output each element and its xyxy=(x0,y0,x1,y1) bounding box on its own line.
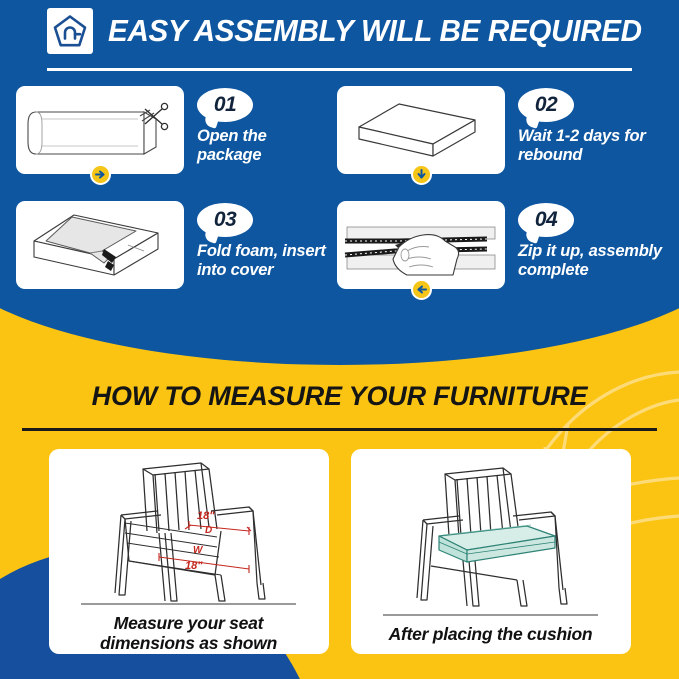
step-04-label: Zip it up, assembly complete xyxy=(518,242,662,279)
chair-with-cushion-icon xyxy=(351,449,631,614)
step-02: 02 Wait 1-2 days for rebound xyxy=(330,86,670,174)
step-04-number: 04 xyxy=(535,208,557,232)
step-03-number-bubble: 03 xyxy=(197,203,253,237)
step-01-number: 01 xyxy=(214,93,236,117)
step-04-text: 04 Zip it up, assembly complete xyxy=(505,201,662,279)
hand-zipping-cover-icon xyxy=(337,201,505,289)
header-divider xyxy=(47,68,632,71)
arrow-right-icon xyxy=(90,164,111,185)
step-01-text: 01 Open the package xyxy=(184,86,267,164)
step-01: 01 Open the package xyxy=(0,86,330,174)
step-02-illustration-card xyxy=(337,86,505,174)
measure-card-dimensions: 18" D W 18" Measure your seat dimensions… xyxy=(49,449,329,654)
dimension-width-value: 18" xyxy=(185,560,203,572)
step-02-number-bubble: 02 xyxy=(518,88,574,122)
step-02-label: Wait 1-2 days for rebound xyxy=(518,127,645,164)
arrow-left-icon xyxy=(411,279,432,300)
step-01-illustration-card xyxy=(16,86,184,174)
header: EASY ASSEMBLY WILL BE REQUIRED xyxy=(0,0,679,62)
arrow-down-icon xyxy=(411,164,432,185)
assembly-steps: 01 Open the package xyxy=(0,86,679,289)
step-04: 04 Zip it up, assembly complete xyxy=(330,201,670,289)
step-row-1: 01 Open the package xyxy=(0,86,679,174)
step-03-label: Fold foam, insert into cover xyxy=(197,242,326,279)
measure-card-caption: After placing the cushion xyxy=(351,616,631,654)
step-01-number-bubble: 01 xyxy=(197,88,253,122)
step-01-label: Open the package xyxy=(197,127,267,164)
step-04-number-bubble: 04 xyxy=(518,203,574,237)
measure-card-caption: Measure your seat dimensions as shown xyxy=(49,605,329,654)
chair-with-dimensions-icon: 18" D W 18" xyxy=(49,449,329,603)
step-02-text: 02 Wait 1-2 days for rebound xyxy=(505,86,645,164)
step-03: 03 Fold foam, insert into cover xyxy=(0,201,330,289)
step-03-number: 03 xyxy=(214,208,236,232)
infographic-page: EASY ASSEMBLY WILL BE REQUIRED xyxy=(0,0,679,679)
measure-section-title: HOW TO MEASURE YOUR FURNITURE xyxy=(0,381,679,412)
dimension-depth-value: 18" xyxy=(197,510,215,522)
step-row-2: 03 Fold foam, insert into cover xyxy=(0,201,679,289)
dimension-width-axis: W xyxy=(193,545,204,556)
measure-cards: 18" D W 18" Measure your seat dimensions… xyxy=(0,449,679,654)
step-04-illustration-card xyxy=(337,201,505,289)
step-03-text: 03 Fold foam, insert into cover xyxy=(184,201,326,279)
dimension-depth-axis: D xyxy=(205,525,212,536)
measure-section-divider xyxy=(22,428,657,431)
measure-card-cushion: After placing the cushion xyxy=(351,449,631,654)
step-02-number: 02 xyxy=(535,93,557,117)
blue-top-panel: EASY ASSEMBLY WILL BE REQUIRED xyxy=(0,0,679,365)
package-with-scissors-icon xyxy=(16,86,184,174)
house-pentagon-icon xyxy=(47,8,93,54)
flat-foam-cushion-icon xyxy=(337,86,505,174)
step-03-illustration-card xyxy=(16,201,184,289)
page-title: EASY ASSEMBLY WILL BE REQUIRED xyxy=(108,14,642,49)
fold-foam-into-cover-icon xyxy=(16,201,184,289)
